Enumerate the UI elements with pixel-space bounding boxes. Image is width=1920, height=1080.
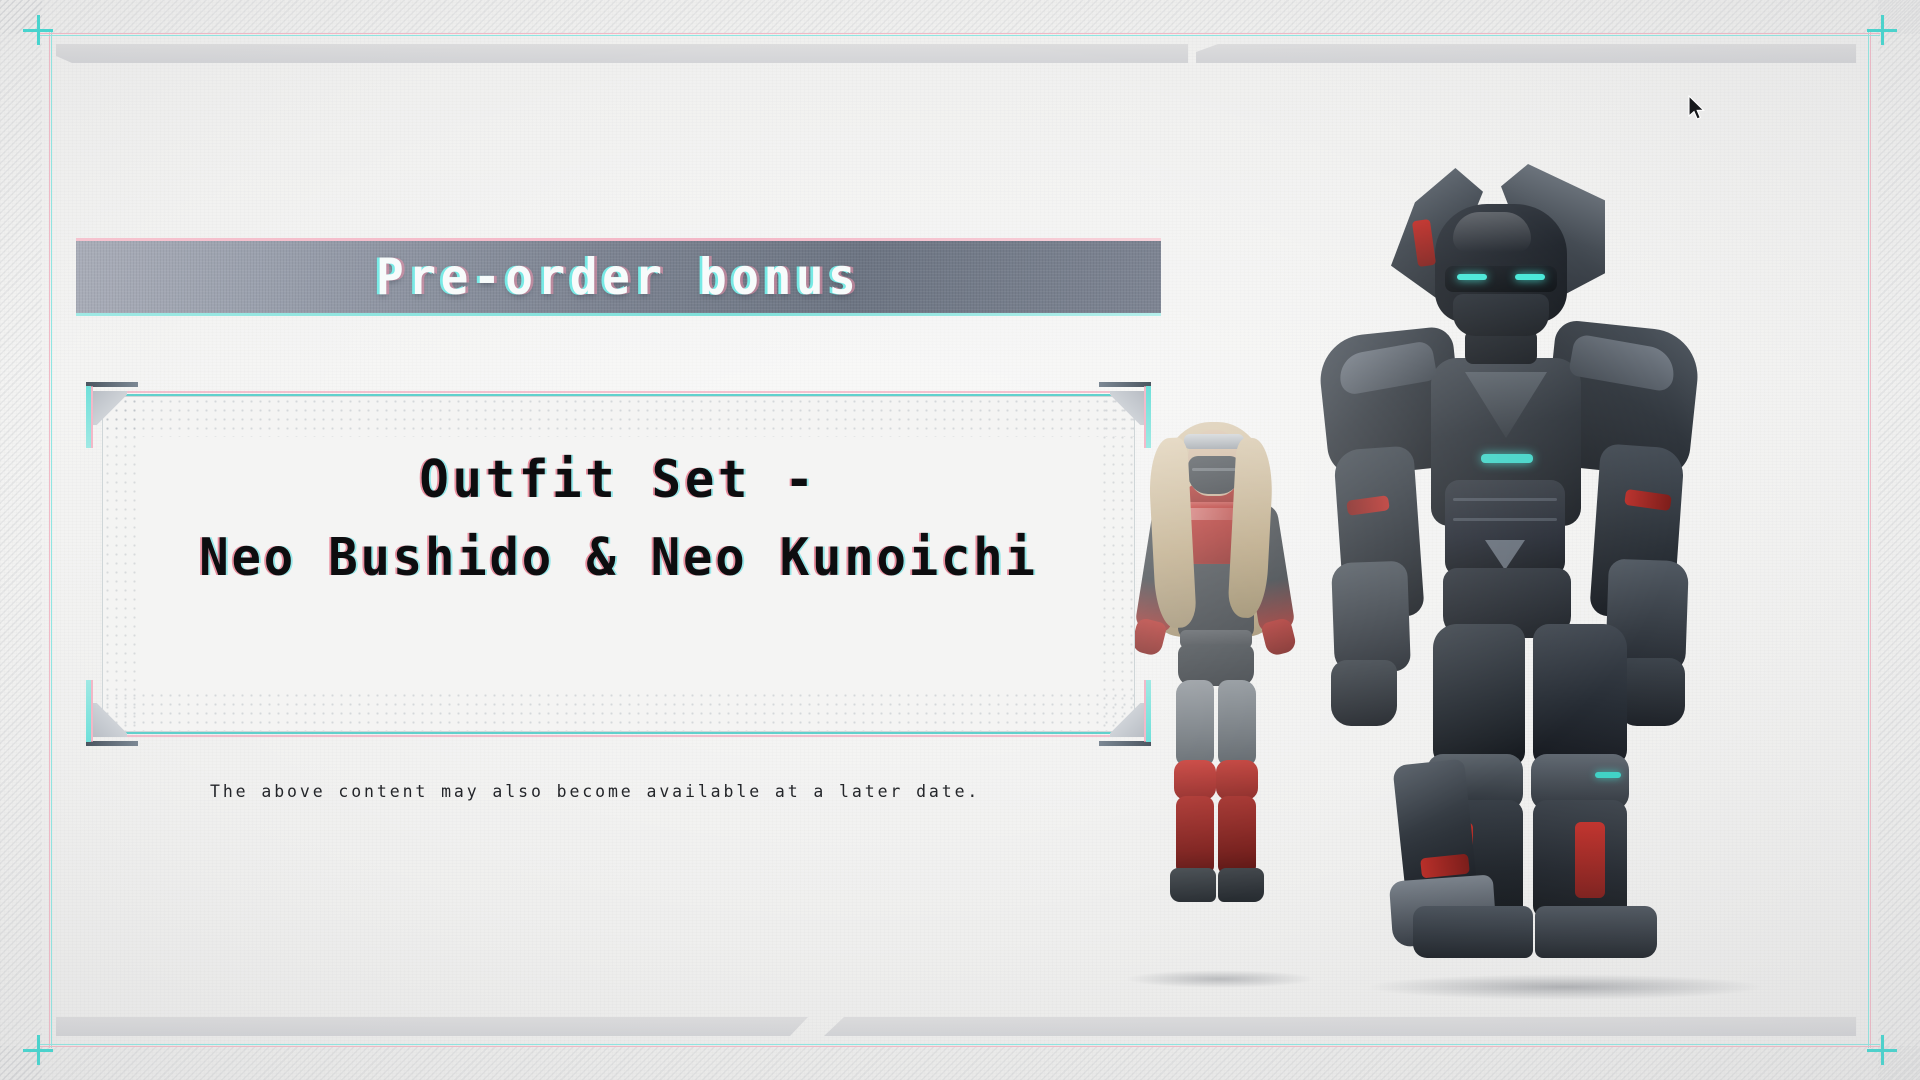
- left-hatch-margin: [0, 0, 42, 1080]
- crosshair-icon-bottom-left: [23, 1035, 53, 1065]
- bushido-right-thigh: [1533, 624, 1627, 766]
- outfit-set-title-line-1: Outfit Set -: [134, 447, 1103, 515]
- pre-order-bonus-banner: Pre-order bonus: [76, 241, 1161, 313]
- bushido-right-foot: [1535, 906, 1657, 958]
- kunoichi-right-knee-guard: [1216, 760, 1258, 800]
- kunoichi-face-mask: [1188, 456, 1240, 494]
- frame-line-left-pink: [49, 32, 50, 1048]
- panel-inner-surface: Outfit Set - Neo Bushido & Neo Kunoichi: [102, 396, 1135, 732]
- bushido-chest-triangle: [1485, 540, 1525, 570]
- bushido-jaw-guard: [1453, 294, 1549, 336]
- kunoichi-left-thigh: [1176, 680, 1214, 766]
- kunoichi-left-boot: [1170, 868, 1216, 902]
- bushido-knee-glow-strip: [1595, 772, 1621, 778]
- outfit-set-title: Outfit Set - Neo Bushido & Neo Kunoichi: [103, 447, 1134, 592]
- panel-dot-texture-bottom: [103, 691, 1134, 731]
- frame-line-left-cyan: [51, 32, 52, 1048]
- promo-screen: Pre-order bonus Outfit Set - Neo Bushido…: [0, 0, 1920, 1080]
- bushido-ground-shadow: [1365, 974, 1765, 1000]
- bushido-right-hand: [1617, 658, 1685, 726]
- character-neo-bushido: [1295, 162, 1835, 992]
- crosshair-icon-top-left: [23, 15, 53, 45]
- availability-disclaimer: The above content may also become availa…: [210, 782, 980, 802]
- bushido-chest-glow-strip: [1481, 454, 1533, 463]
- kunoichi-left-shin: [1176, 796, 1214, 874]
- kunoichi-mask-vent: [1192, 468, 1236, 471]
- bushido-left-foot: [1413, 906, 1533, 958]
- outfit-set-title-line-2: Neo Bushido & Neo Kunoichi: [134, 525, 1103, 593]
- bushido-left-hand: [1331, 660, 1397, 726]
- banner-title: Pre-order bonus: [376, 248, 860, 306]
- bushido-right-shin-red-accent: [1575, 822, 1605, 898]
- kunoichi-left-knee-guard: [1174, 760, 1216, 800]
- bushido-left-forearm: [1331, 561, 1411, 674]
- character-artwork: [1080, 0, 1920, 1080]
- panel-edge-bottom-cyan: [102, 732, 1135, 734]
- panel-edge-bottom-pink: [102, 735, 1135, 737]
- panel-edge-top-pink: [102, 391, 1135, 393]
- mouse-pointer-icon: [1688, 95, 1706, 121]
- outfit-set-panel: Outfit Set - Neo Bushido & Neo Kunoichi: [76, 380, 1161, 748]
- bushido-left-thigh: [1433, 624, 1525, 766]
- kunoichi-right-shin: [1218, 796, 1256, 874]
- bushido-left-eye-glow: [1457, 274, 1487, 280]
- bushido-right-eye-glow: [1515, 274, 1545, 280]
- kunoichi-right-thigh: [1218, 680, 1256, 766]
- kunoichi-ground-shadow: [1125, 970, 1315, 988]
- bushido-abdomen-line-1: [1453, 498, 1557, 501]
- kunoichi-right-boot: [1218, 868, 1264, 902]
- bushido-helmet-gloss: [1453, 212, 1531, 252]
- bushido-abdomen-line-2: [1453, 518, 1557, 521]
- kunoichi-headband: [1184, 434, 1244, 449]
- panel-dot-texture-top: [103, 397, 1134, 437]
- accent-bar-top-left: [56, 44, 1188, 63]
- accent-bar-bottom-left: [56, 1017, 808, 1036]
